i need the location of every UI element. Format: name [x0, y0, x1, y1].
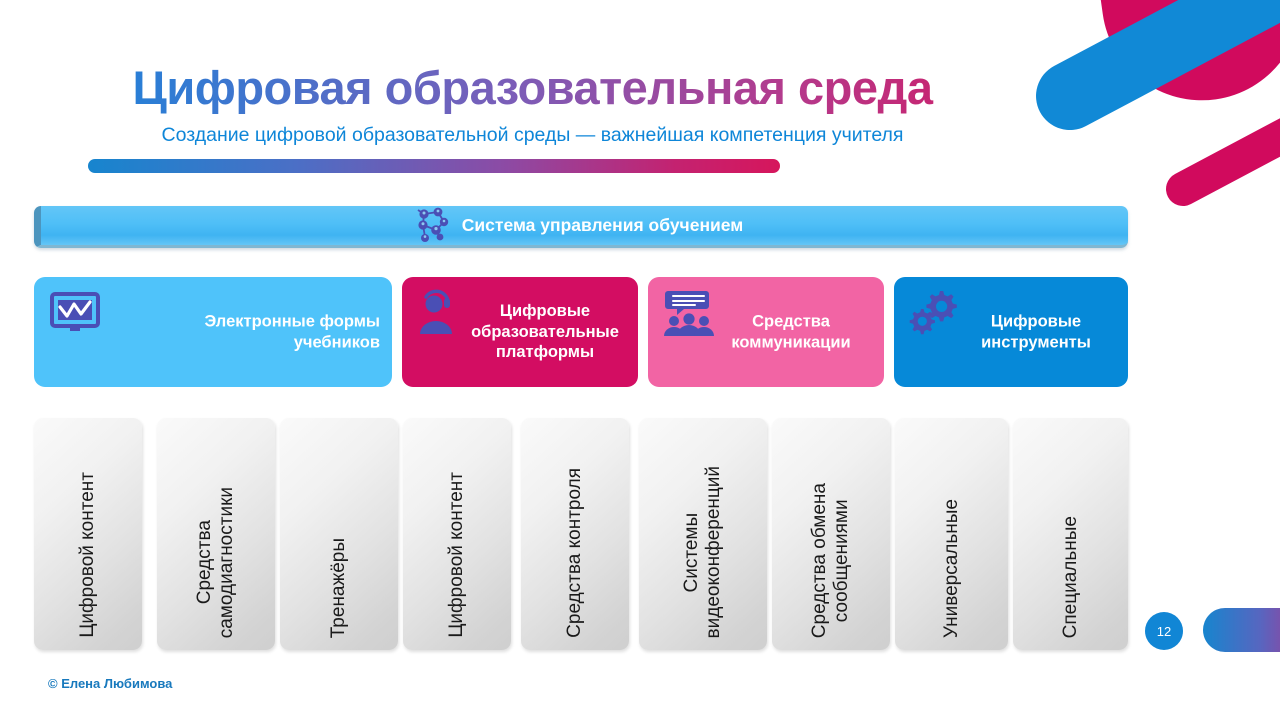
item-card[interactable]: Специальные [1013, 418, 1128, 650]
lms-header-content: Система управления обучением [410, 206, 743, 246]
slide-canvas: Цифровая образовательная среда Создание … [0, 0, 1280, 720]
category-card-label: Цифровые образовательные платформы [464, 301, 626, 363]
crimson-quarter-circle-shape [1097, 0, 1280, 113]
item-card-label: Системы видеоконференций [681, 466, 725, 638]
network-nodes-icon [410, 206, 456, 246]
item-card[interactable]: Универсальные [895, 418, 1008, 650]
crimson-diagonal-bar-shape [1160, 69, 1280, 212]
item-card-row: Цифровой контент Средства самодиагностик… [34, 418, 1128, 650]
category-card-row: Электронные формы учебников Цифровые обр… [34, 277, 1128, 387]
page-subtitle: Создание цифровой образовательной среды … [0, 124, 1065, 147]
item-card[interactable]: Цифровой контент [403, 418, 511, 650]
item-card[interactable]: Тренажёры [280, 418, 398, 650]
category-card-label: Средства коммуникации [710, 311, 872, 352]
item-card-label: Цифровой контент [77, 472, 99, 638]
item-card[interactable]: Средства самодиагностики [157, 418, 275, 650]
item-card-label: Специальные [1060, 516, 1082, 638]
title-gradient-rule [88, 159, 780, 173]
footer-credit: © Елена Любимова [48, 676, 172, 691]
item-card-label: Универсальные [941, 499, 963, 638]
category-card-label: Электронные формы учебников [204, 311, 380, 352]
category-card-electronic-textbooks[interactable]: Электронные формы учебников [34, 277, 392, 387]
gradient-pill-shape [1203, 608, 1280, 652]
category-card-communication-tools[interactable]: Средства коммуникации [648, 277, 884, 387]
item-card[interactable]: Системы видеоконференций [639, 418, 767, 650]
monitor-chart-icon [48, 289, 104, 337]
item-card[interactable]: Цифровой контент [34, 418, 142, 650]
item-card-label: Средства обмена сообщениями [809, 483, 853, 638]
page-number-badge: 12 [1145, 612, 1183, 650]
category-card-label: Цифровые инструменты [956, 311, 1116, 352]
item-card-label: Средства контроля [564, 468, 586, 638]
item-card[interactable]: Средства обмена сообщениями [772, 418, 890, 650]
page-title: Цифровая образовательная среда [0, 60, 1065, 115]
category-card-digital-tools[interactable]: Цифровые инструменты [894, 277, 1128, 387]
lms-header-bar: Система управления обучением [34, 206, 1128, 248]
item-card-label: Цифровой контент [446, 472, 468, 638]
item-card[interactable]: Средства контроля [521, 418, 629, 650]
item-card-label: Средства самодиагностики [194, 487, 238, 638]
item-card-label: Тренажёры [328, 538, 350, 638]
lms-header-label: Система управления обучением [462, 215, 743, 236]
category-card-digital-platforms[interactable]: Цифровые образовательные платформы [402, 277, 638, 387]
